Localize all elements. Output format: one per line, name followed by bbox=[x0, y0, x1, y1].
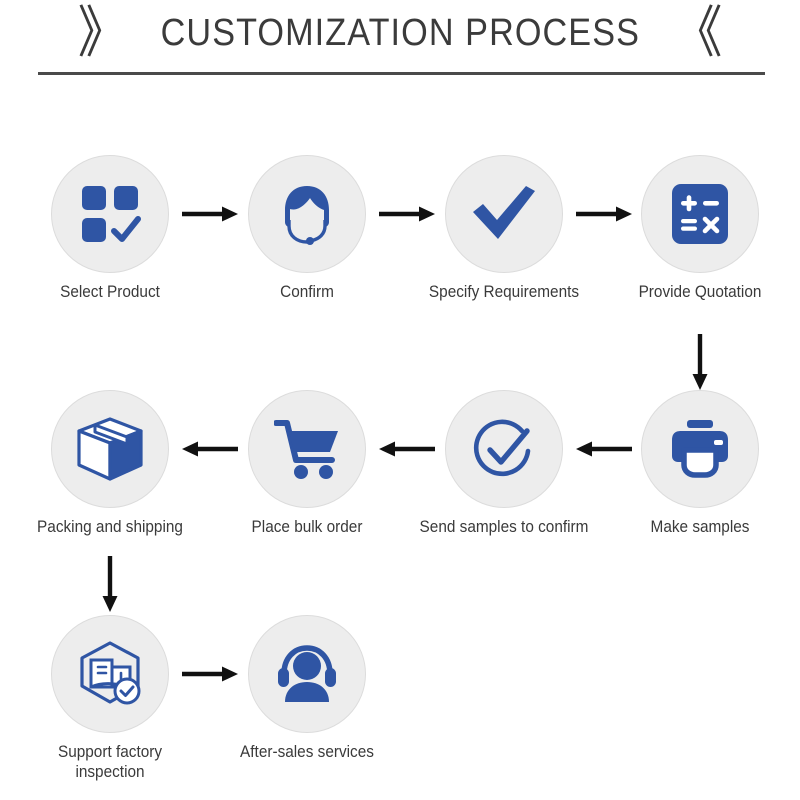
step-node-send-samples-to-confirm[interactable]: Send samples to confirm bbox=[406, 390, 602, 537]
step-node-confirm[interactable]: Confirm bbox=[209, 155, 405, 302]
step-node-select-product[interactable]: Select Product bbox=[12, 155, 208, 302]
step-label: Packing and shipping bbox=[19, 517, 201, 537]
step-node-specify-requirements[interactable]: Specify Requirements bbox=[406, 155, 602, 302]
step-icon-bubble bbox=[445, 390, 563, 508]
step-label: Confirm bbox=[216, 282, 398, 302]
chevron-right-double-icon: 》 bbox=[78, 5, 128, 61]
step-icon-bubble bbox=[51, 390, 169, 508]
circle-check-icon bbox=[472, 417, 536, 481]
step-node-provide-quotation[interactable]: Provide Quotation bbox=[602, 155, 798, 302]
step-icon-bubble bbox=[248, 155, 366, 273]
package-box-icon bbox=[77, 417, 143, 481]
arrow-step8-to-step9 bbox=[101, 556, 119, 612]
step-label: Send samples to confirm bbox=[413, 517, 595, 537]
title-row: 》 CUSTOMIZATION PROCESS 《 bbox=[0, 8, 800, 58]
factory-shield-check-icon bbox=[76, 641, 144, 707]
checkmark-icon bbox=[471, 184, 537, 244]
title-divider bbox=[38, 72, 765, 75]
arrow-step9-to-step10 bbox=[182, 665, 238, 683]
step-icon-bubble bbox=[51, 155, 169, 273]
step-label: Specify Requirements bbox=[413, 282, 595, 302]
arrow-step7-to-step8 bbox=[182, 440, 238, 458]
arrow-step6-to-step7 bbox=[379, 440, 435, 458]
arrow-step5-to-step6 bbox=[576, 440, 632, 458]
page-title: CUSTOMIZATION PROCESS bbox=[160, 14, 639, 52]
step-node-after-sales-services[interactable]: After-sales services bbox=[209, 615, 405, 762]
support-agent-icon bbox=[274, 644, 340, 704]
step-label: Make samples bbox=[609, 517, 791, 537]
arrow-step4-to-step5 bbox=[691, 334, 709, 390]
customization-process-infographic: 》 CUSTOMIZATION PROCESS 《 Select Product bbox=[0, 0, 800, 800]
step-label: Select Product bbox=[19, 282, 201, 302]
step-icon-bubble bbox=[248, 615, 366, 733]
arrow-step2-to-step3 bbox=[379, 205, 435, 223]
grid-check-icon bbox=[79, 183, 141, 245]
step-icon-bubble bbox=[641, 155, 759, 273]
step-label: Support factory inspection bbox=[19, 742, 201, 782]
process-flow: Select Product Confirm Specify Requireme… bbox=[0, 90, 800, 800]
step-label: Provide Quotation bbox=[609, 282, 791, 302]
step-icon-bubble bbox=[51, 615, 169, 733]
shopping-cart-icon bbox=[274, 418, 340, 480]
step-icon-bubble bbox=[248, 390, 366, 508]
step-node-packing-and-shipping[interactable]: Packing and shipping bbox=[12, 390, 208, 537]
headset-operator-icon bbox=[275, 182, 339, 246]
step-icon-bubble bbox=[641, 390, 759, 508]
step-node-support-factory-inspection[interactable]: Support factory inspection bbox=[12, 615, 208, 782]
step-icon-bubble bbox=[445, 155, 563, 273]
step-node-place-bulk-order[interactable]: Place bulk order bbox=[209, 390, 405, 537]
step-label: After-sales services bbox=[216, 742, 398, 762]
calculator-icon bbox=[671, 183, 729, 245]
chevron-left-double-icon: 《 bbox=[672, 5, 722, 61]
step-node-make-samples[interactable]: Make samples bbox=[602, 390, 798, 537]
page-header: 》 CUSTOMIZATION PROCESS 《 bbox=[0, 0, 800, 90]
step-label: Place bulk order bbox=[216, 517, 398, 537]
arrow-step3-to-step4 bbox=[576, 205, 632, 223]
arrow-step1-to-step2 bbox=[182, 205, 238, 223]
printer-icon bbox=[668, 420, 732, 478]
